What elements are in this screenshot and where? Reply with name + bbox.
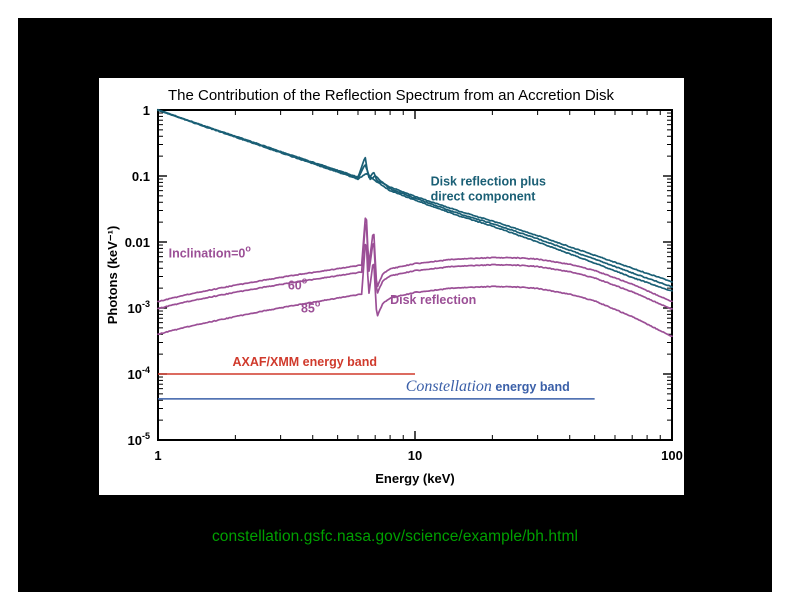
source-url: constellation.gsfc.nasa.gov/science/exam… [18,528,772,546]
y-tick-label: 0.1 [132,169,150,184]
x-tick-label: 100 [661,448,683,463]
figure-panel: The Contribution of the Reflection Spect… [99,78,684,495]
y-tick-label: 0.01 [125,235,150,250]
total-label: Disk reflection plusdirect component [431,174,546,203]
y-tick-label: 1 [143,103,150,118]
x-tick-label: 1 [154,448,161,463]
chart-background [99,78,684,495]
slide-background: The Contribution of the Reflection Spect… [18,18,772,592]
x-axis-label: Energy (keV) [375,471,454,486]
chart-title: The Contribution of the Reflection Spect… [168,87,615,104]
y-axis-label: Photons (keV⁻¹) [105,226,120,325]
constellation-band-label: Constellation energy band [406,378,570,395]
axaf-xmm-band-label: AXAF/XMM energy band [233,355,377,369]
x-tick-label: 10 [408,448,422,463]
inclination-0: Inclination=0o [169,244,252,261]
reflection-label: Disk reflection [390,293,476,307]
spectrum-chart: The Contribution of the Reflection Spect… [99,78,684,495]
